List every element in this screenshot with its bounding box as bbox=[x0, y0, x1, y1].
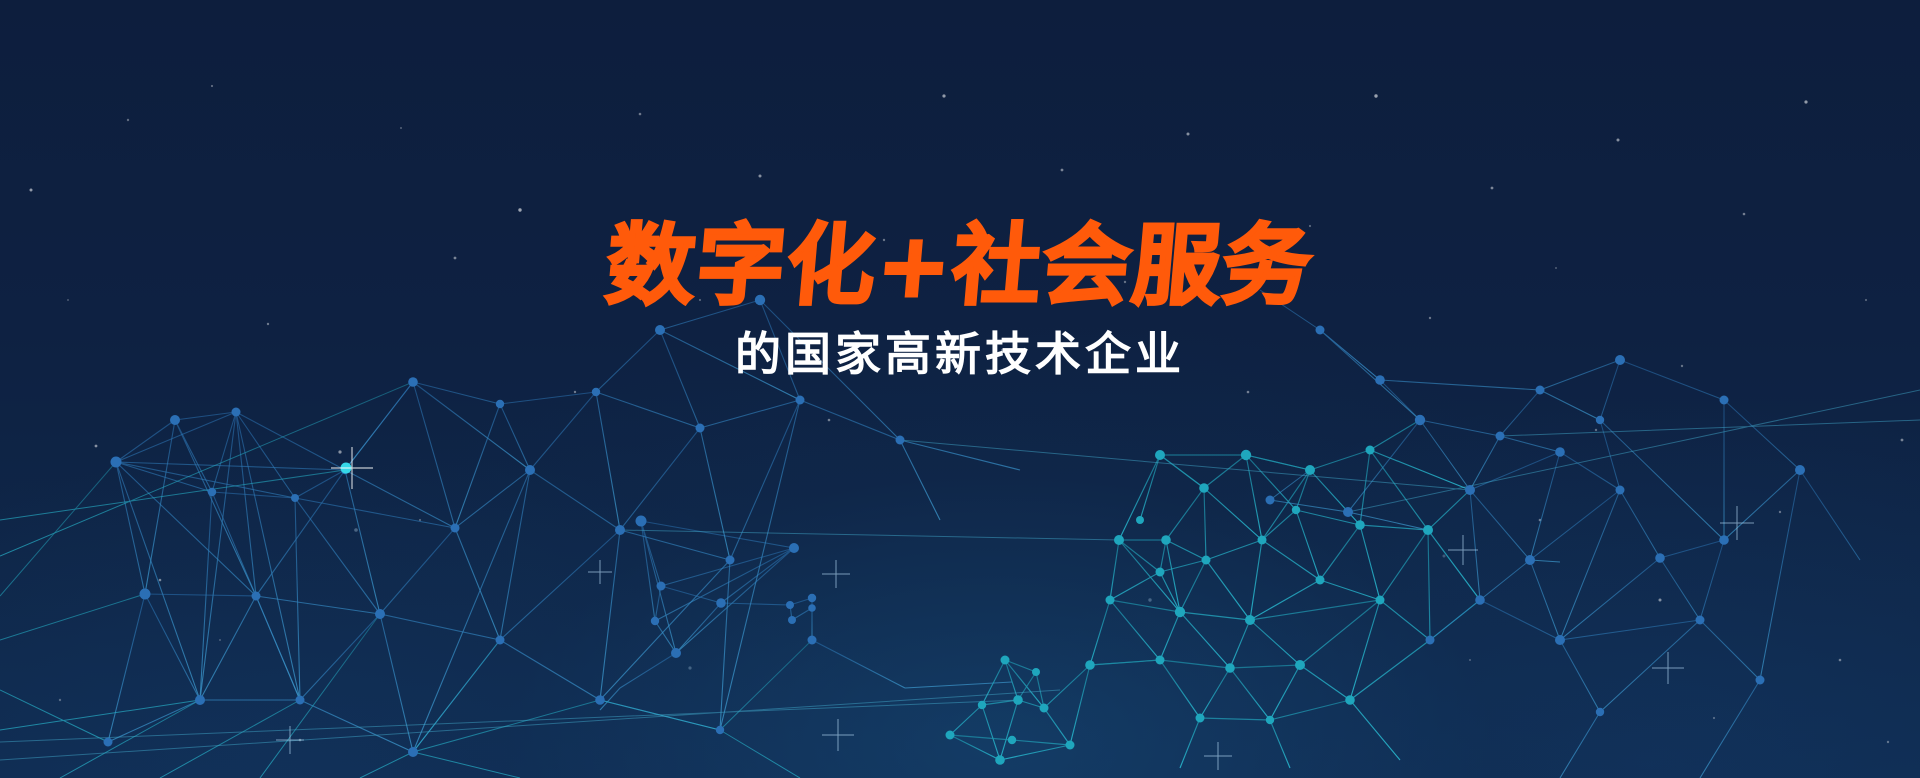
highlight-node bbox=[341, 463, 352, 474]
hero-text-block: 数字化+社会服务 的国家高新技术企业 bbox=[0, 218, 1920, 380]
page-title: 数字化+社会服务 bbox=[0, 218, 1920, 313]
hero-banner: 数字化+社会服务 的国家高新技术企业 bbox=[0, 0, 1920, 778]
page-subtitle: 的国家高新技术企业 bbox=[0, 329, 1920, 380]
starfield-graphic bbox=[0, 0, 1920, 778]
polygon-network-graphic bbox=[0, 0, 1920, 778]
star-glint-graphic bbox=[0, 0, 1920, 778]
background-gradient bbox=[0, 0, 1920, 778]
